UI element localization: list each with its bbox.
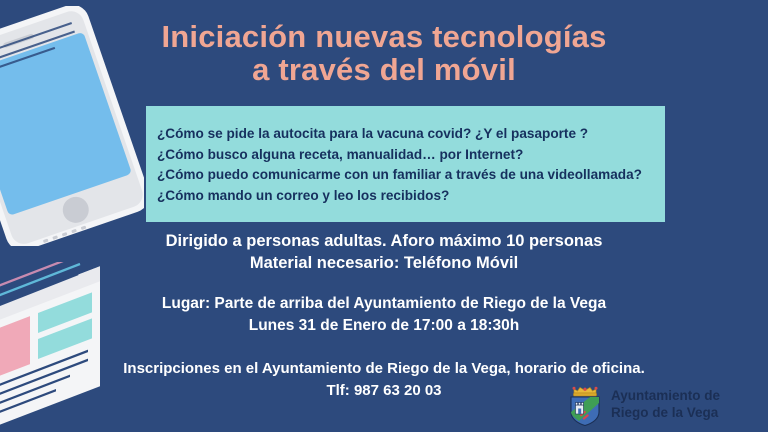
ayuntamiento-logo: Ayuntamiento de Riego de la Vega — [566, 380, 762, 428]
question-item: ¿Cómo puedo comunicarme con un familiar … — [157, 165, 665, 186]
poster-canvas: Iniciación nuevas tecnologías a través d… — [0, 0, 768, 432]
logo-line-2: Riego de la Vega — [611, 404, 720, 421]
audience-line-2: Material necesario: Teléfono Móvil — [0, 252, 768, 274]
question-item: ¿Cómo mando un correo y leo los recibido… — [157, 186, 665, 207]
place-block: Lugar: Parte de arriba del Ayuntamiento … — [0, 293, 768, 337]
poster-title: Iniciación nuevas tecnologías a través d… — [0, 20, 768, 86]
signup-line: Inscripciones en el Ayuntamiento de Rieg… — [0, 358, 768, 380]
audience-line-1: Dirigido a personas adultas. Aforo máxim… — [0, 230, 768, 252]
browser-window-illustration — [0, 262, 160, 432]
title-line-1: Iniciación nuevas tecnologías — [0, 20, 768, 53]
audience-block: Dirigido a personas adultas. Aforo máxim… — [0, 230, 768, 274]
question-item: ¿Cómo se pide la autocita para la vacuna… — [157, 124, 665, 145]
questions-panel: ¿Cómo se pide la autocita para la vacuna… — [146, 106, 665, 222]
place-line: Lugar: Parte de arriba del Ayuntamiento … — [0, 293, 768, 315]
logo-text: Ayuntamiento de Riego de la Vega — [611, 387, 720, 421]
logo-line-1: Ayuntamiento de — [611, 387, 720, 404]
question-item: ¿Cómo busco alguna receta, manualidad… p… — [157, 145, 665, 166]
coat-of-arms-icon — [566, 382, 604, 426]
schedule-line: Lunes 31 de Enero de 17:00 a 18:30h — [0, 315, 768, 337]
title-line-2: a través del móvil — [0, 53, 768, 86]
